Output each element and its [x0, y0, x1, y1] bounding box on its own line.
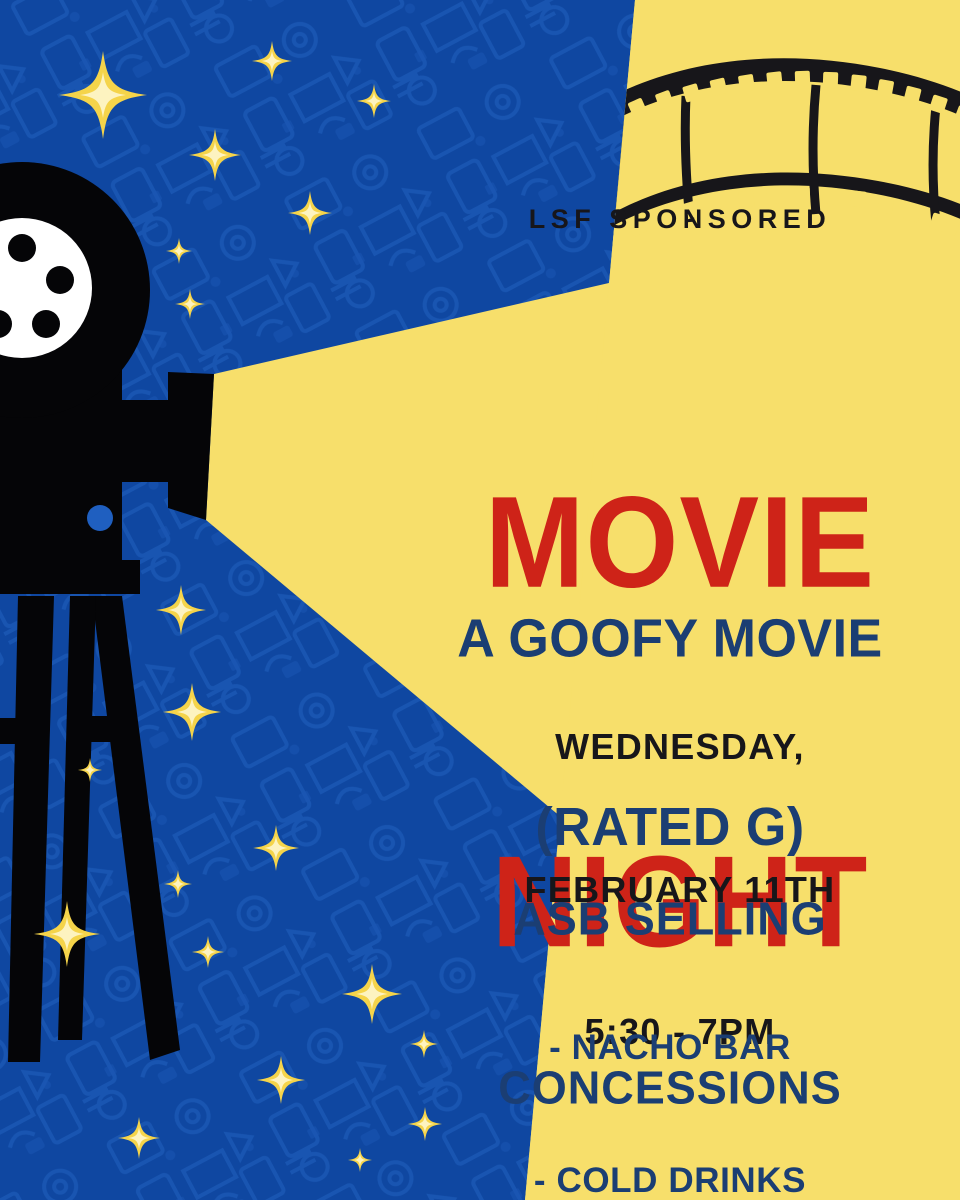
projector-knob	[87, 505, 113, 531]
movie-night-poster: LSF SPONSORED MOVIE NIGHT A GOOFY MOVIE …	[0, 0, 960, 1200]
poster-artwork	[0, 0, 960, 1200]
